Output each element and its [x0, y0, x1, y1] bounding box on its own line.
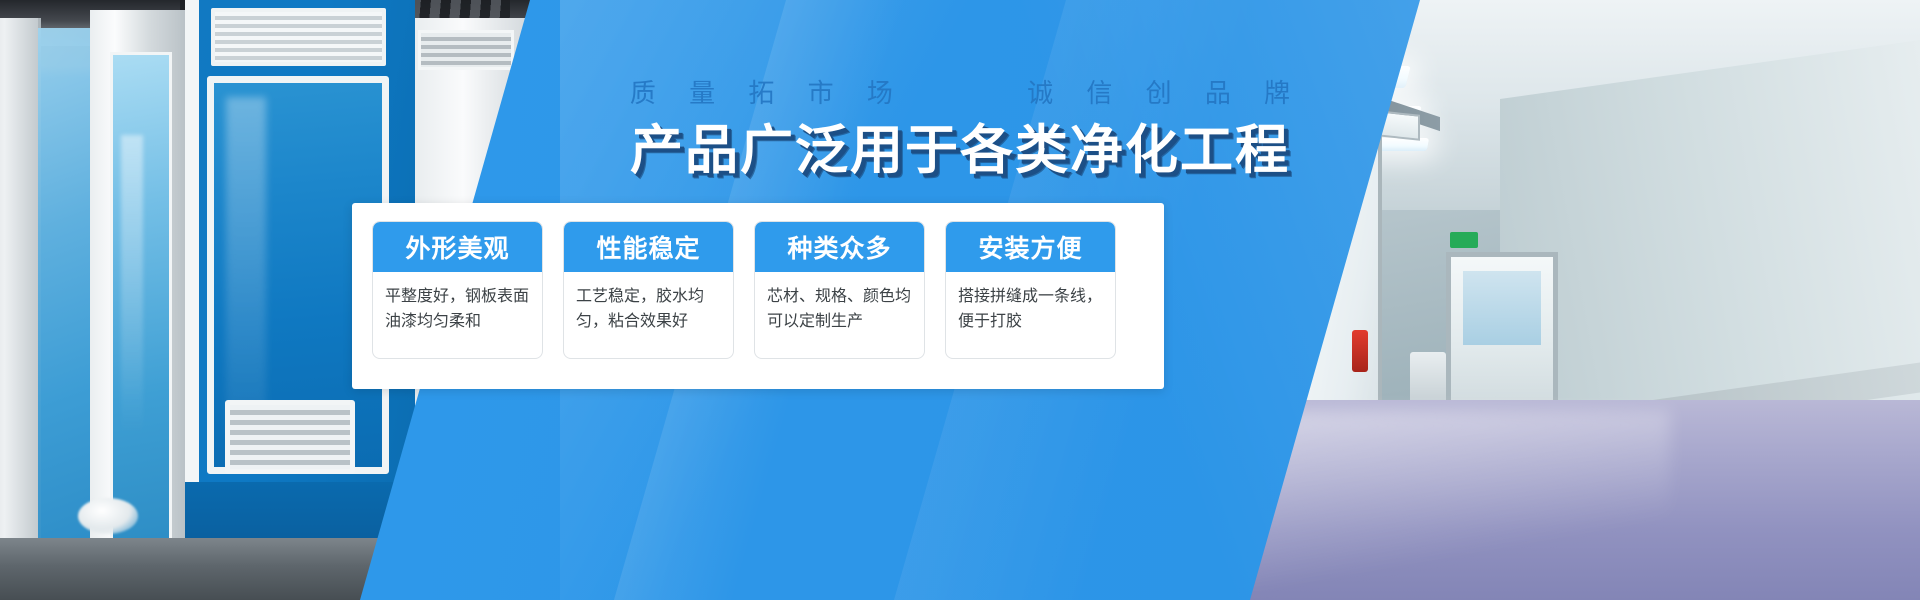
- feature-card-body: 平整度好，钢板表面油漆均匀柔和: [373, 272, 542, 358]
- corridor-door-far: [1446, 252, 1558, 424]
- promo-banner: 质 量 拓 市 场 诚 信 创 品 牌 产品广泛用于各类净化工程 外形美观 平整…: [0, 0, 1920, 600]
- feature-card-body: 搭接拼缝成一条线，便于打胶: [946, 272, 1115, 358]
- feature-card-title: 种类众多: [755, 222, 924, 272]
- feature-card-body: 芯材、规格、颜色均可以定制生产: [755, 272, 924, 358]
- corridor-floor-reflection: [1240, 410, 1670, 600]
- feature-card[interactable]: 安装方便 搭接拼缝成一条线，便于打胶: [945, 221, 1116, 359]
- feature-card-body: 工艺稳定，胶水均匀，粘合效果好: [564, 272, 733, 358]
- feature-card[interactable]: 外形美观 平整度好，钢板表面油漆均匀柔和: [372, 221, 543, 359]
- feature-card-title: 性能稳定: [564, 222, 733, 272]
- feature-card-title: 安装方便: [946, 222, 1115, 272]
- banner-headline: 产品广泛用于各类净化工程: [0, 118, 1920, 184]
- feature-card-title: 外形美观: [373, 222, 542, 272]
- cabin-bottom-vent: [225, 400, 355, 474]
- exit-sign-icon: [1450, 232, 1478, 248]
- cabin-top-louver: [211, 8, 386, 66]
- feature-card[interactable]: 性能稳定 工艺稳定，胶水均匀，粘合效果好: [563, 221, 734, 359]
- feature-card-strip: 外形美观 平整度好，钢板表面油漆均匀柔和 性能稳定 工艺稳定，胶水均匀，粘合效果…: [352, 203, 1164, 389]
- feature-card[interactable]: 种类众多 芯材、规格、颜色均可以定制生产: [754, 221, 925, 359]
- fire-extinguisher-icon: [1352, 330, 1368, 372]
- banner-tagline: 质 量 拓 市 场 诚 信 创 品 牌: [0, 76, 1920, 110]
- floor-highlight: [78, 498, 138, 534]
- cabin-white-louver: [418, 30, 514, 70]
